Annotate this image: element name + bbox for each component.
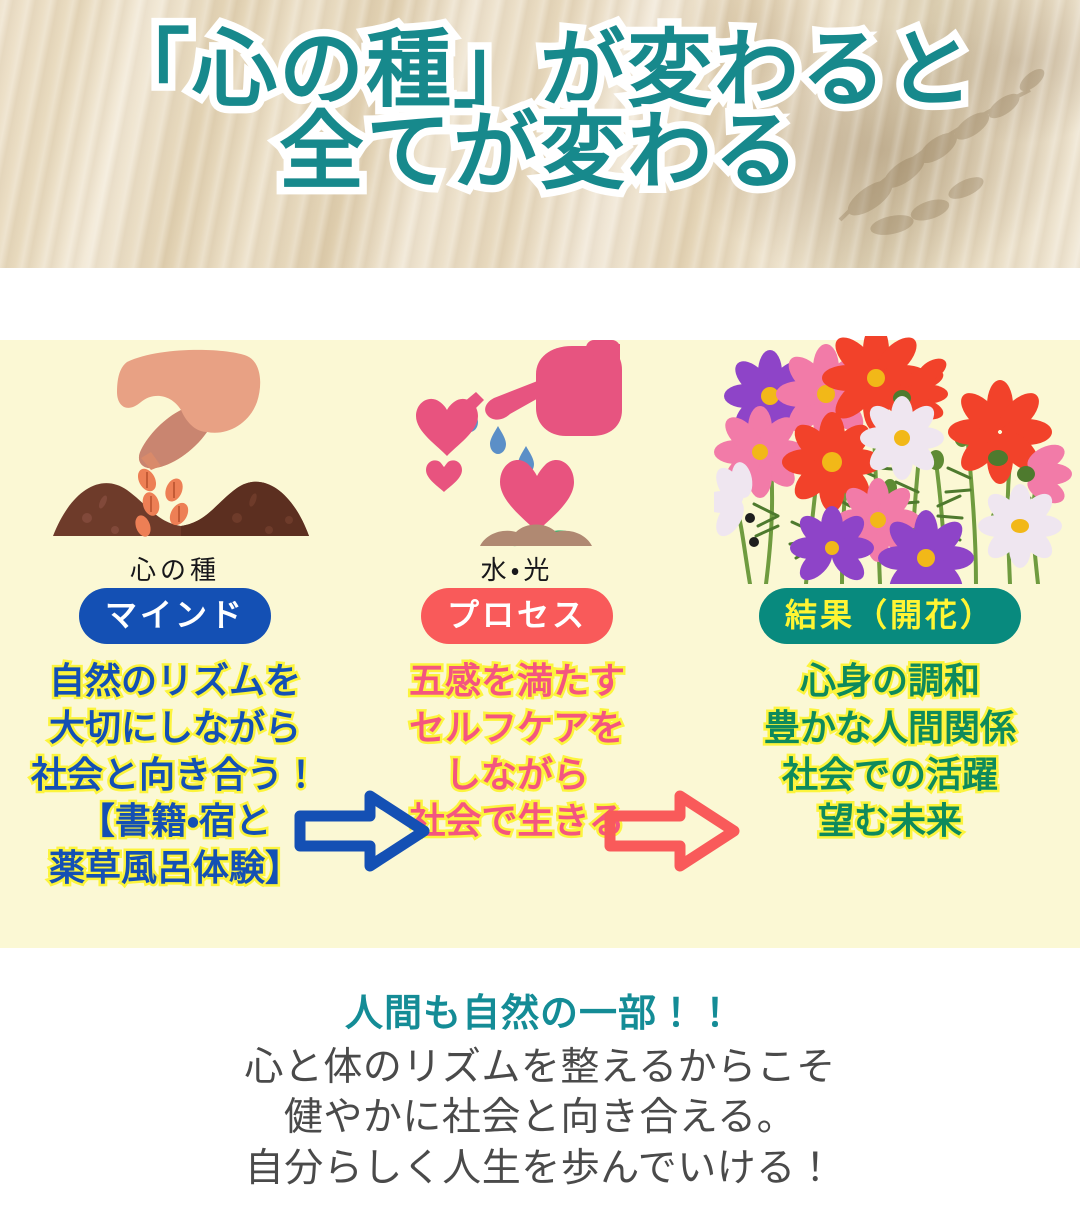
title-line-2: 全てが変わる [0,112,1080,194]
page-title: 「心の種」が変わると 全てが変わる [0,30,1080,193]
column-caption: 水・光 [352,554,682,588]
footer-message: 人間も自然の一部！！ 心と体のリズムを整えるからこそ 健やかに社会と向き合える。… [0,990,1080,1195]
pill-mind[interactable]: マインド [79,588,271,644]
body-line: セルフケアを [352,705,682,752]
arrow-right-blue-icon [292,788,432,879]
title-line-1: 「心の種」が変わると [0,30,1080,112]
column-body-text: 心身の調和 豊かな人間関係 社会での活躍 望む未来 [700,658,1080,845]
watering-can-heart-sprout-illustration [352,340,682,550]
footer-line: 健やかに社会と向き合える。 [0,1093,1080,1144]
body-line: 大切にしながら [0,705,350,752]
column-caption: 心の種 [0,554,350,588]
footer-line: 心と体のリズムを整えるからこそ [0,1043,1080,1094]
body-line: 望む未来 [700,798,1080,845]
pill-process[interactable]: プロセス [421,588,613,644]
body-line: 社会での活躍 [700,752,1080,799]
pill-result[interactable]: 結果（開花） [759,588,1021,644]
column-result: 結果（開花） 心身の調和 豊かな人間関係 社会での活躍 望む未来 [700,340,1080,845]
arrow-right-coral-icon [602,788,742,879]
hand-sowing-seeds-illustration [0,340,350,550]
footer-body: 心と体のリズムを整えるからこそ 健やかに社会と向き合える。 自分らしく人生を歩ん… [0,1043,1080,1195]
header-banner: 「心の種」が変わると 全てが変わる [0,0,1080,268]
body-line: 豊かな人間関係 [700,705,1080,752]
column-process: 水・光 プロセス 五感を満たす セルフケアを しながら 社会で生きる [352,340,682,845]
body-line: 心身の調和 [700,658,1080,705]
body-line: 自然のリズムを [0,658,350,705]
cosmos-flower-field-illustration [700,340,1080,550]
footer-line: 自分らしく人生を歩んでいける！ [0,1144,1080,1195]
body-line: 五感を満たす [352,658,682,705]
footer-lead: 人間も自然の一部！！ [0,990,1080,1039]
process-panel: 心の種 マインド 自然のリズムを 大切にしながら 社会と向き合う！ 【書籍・宿と… [0,340,1080,948]
